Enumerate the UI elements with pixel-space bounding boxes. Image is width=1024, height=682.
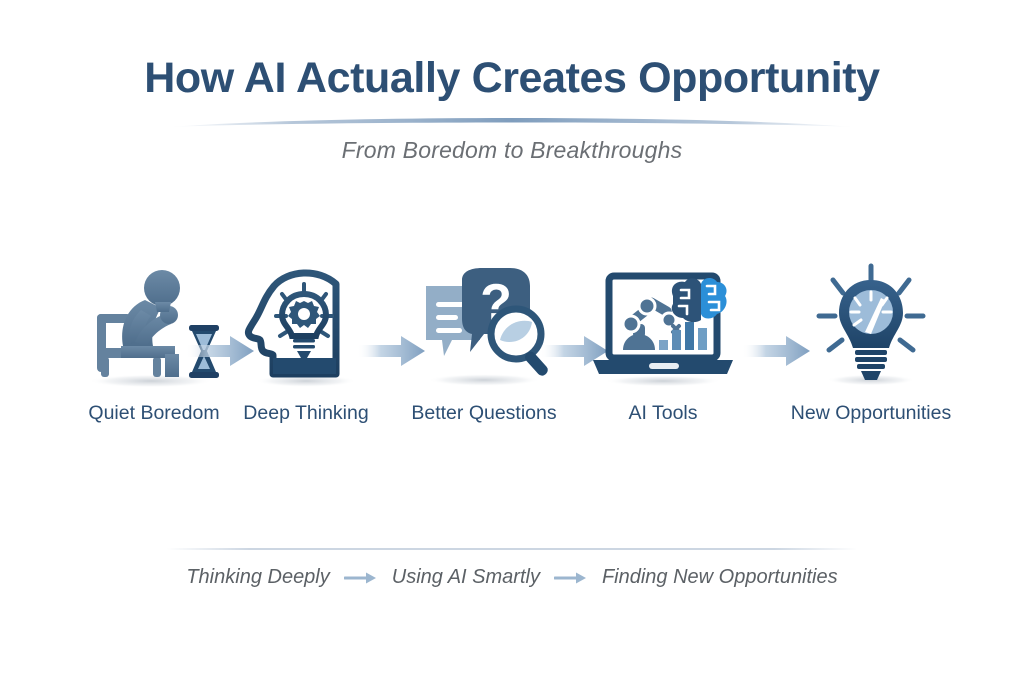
footer-arrow-2 bbox=[554, 571, 588, 585]
stage-label: Quiet Boredom bbox=[70, 402, 238, 425]
footer-divider bbox=[167, 548, 857, 550]
title-divider bbox=[167, 111, 857, 133]
stage-icon-wrapper bbox=[787, 262, 955, 388]
stage-icon-wrapper bbox=[579, 262, 747, 388]
page-subtitle: From Boredom to Breakthroughs bbox=[0, 137, 1024, 164]
process-flow: Quiet Boredom bbox=[0, 262, 1024, 462]
footer: Thinking Deeply Using AI Smartly Finding… bbox=[0, 548, 1024, 589]
gear-icon bbox=[288, 301, 320, 328]
footer-arrow-1 bbox=[344, 571, 378, 585]
footer-item-finding-new-opportunities: Finding New Opportunities bbox=[602, 566, 838, 589]
stage-label: Deep Thinking bbox=[222, 402, 390, 425]
robot-arm-icon bbox=[623, 296, 679, 350]
head-lightbulb-gear-icon bbox=[240, 262, 372, 388]
stage-new-opportunities[interactable]: New Opportunities bbox=[787, 262, 955, 425]
footer-summary: Thinking Deeply Using AI Smartly Finding… bbox=[0, 566, 1024, 589]
arrow-right-icon bbox=[344, 571, 378, 585]
footer-item-using-ai-smartly: Using AI Smartly bbox=[392, 566, 540, 589]
header: How AI Actually Creates Opportunity From… bbox=[0, 56, 1024, 164]
glowing-lightbulb-icon bbox=[803, 262, 939, 388]
arrow-right-icon bbox=[554, 571, 588, 585]
stage-label: Better Questions bbox=[400, 402, 568, 425]
stage-ai-tools[interactable]: AI Tools bbox=[579, 262, 747, 425]
page-title: How AI Actually Creates Opportunity bbox=[0, 56, 1024, 101]
speech-bubbles-question-magnifier-icon: ? bbox=[408, 262, 560, 388]
infographic-page: How AI Actually Creates Opportunity From… bbox=[0, 0, 1024, 682]
laptop-robot-brain-chart-icon bbox=[583, 262, 743, 388]
footer-item-thinking-deeply: Thinking Deeply bbox=[186, 566, 329, 589]
stage-label: AI Tools bbox=[579, 402, 747, 425]
stage-label: New Opportunities bbox=[787, 402, 955, 425]
